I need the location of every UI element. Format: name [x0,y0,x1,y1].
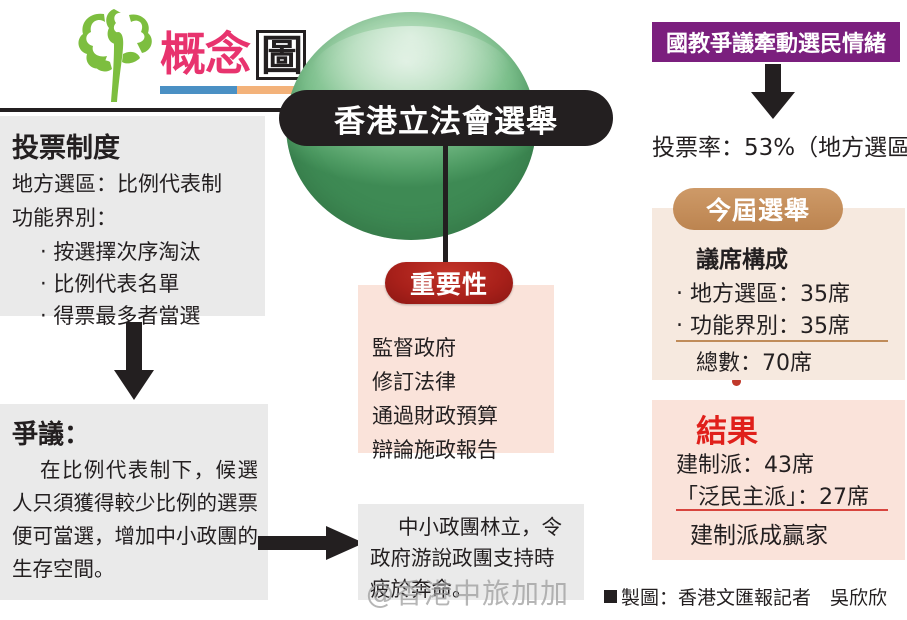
dispute-heading: 爭議： [12,414,90,451]
arrow-down-icon [748,64,798,120]
logo-box-frame: 圖 [256,30,306,80]
importance-item-4: 辯論施政報告 [372,434,498,464]
seat-row-functional: ‧ 功能界別：35席 [676,308,850,340]
voting-system-bullet-1: ‧ 按選擇次序淘汰 [40,236,200,266]
voting-system-bullet-2: ‧ 比例代表名單 [40,268,179,298]
voting-system-heading: 投票制度 [12,126,120,165]
logo-underline-bar [160,86,308,94]
importance-item-1: 監督政府 [372,332,456,362]
voting-system-line-2: 功能界別： [12,202,117,232]
result-conclusion: 建制派成贏家 [690,516,828,550]
watermark: @香港中旅加加 [366,572,569,612]
result-row-proestablishment: 建制派：43席 [676,447,814,479]
page-title: 香港立法會選舉 [279,90,613,146]
logo-text-concept: 概念 [160,28,250,80]
footer-credit: 製圖：香港文匯報記者 吳欣欣 [604,583,887,610]
infographic-root: 概念 圖 香港立法會選舉 投票制度 地方選區：比例代表制 功能界別： ‧ 按選擇… [0,0,907,620]
connector-title-to-importance [443,146,448,266]
dispute-panel: 爭議： 在比例代表制下，候選人只須獲得較少比例的選票便可當選，增加中小政團的生存… [0,404,268,600]
current-election-badge: 今屆選舉 [673,188,843,230]
connector-left-to-title [0,108,285,112]
sprout-leaf-icon [74,6,160,106]
seat-total: 總數：70席 [696,345,812,377]
importance-item-3: 通過財政預算 [372,400,498,430]
seat-row-geographical: ‧ 地方選區：35席 [676,276,850,308]
result-row-pandemocrats: 「泛民主派」：27席 [676,479,869,511]
dispute-body: 在比例代表制下，候選人只須獲得較少比例的選票便可當選，增加中小政團的生存空間。 [12,454,258,586]
result-divider [676,509,888,511]
square-bullet-icon [604,590,617,603]
importance-item-2: 修訂法律 [372,366,456,396]
purple-banner: 國教爭議牽動選民情緒 [652,22,900,62]
result-title: 結果 [696,406,758,451]
importance-badge: 重要性 [385,262,513,304]
logo-text-map: 圖 [261,31,303,81]
seat-composition-heading: 議席構成 [696,240,788,274]
arrow-right-icon [258,526,366,560]
voting-system-line-1: 地方選區：比例代表制 [12,168,222,198]
seat-divider [676,340,888,342]
voting-system-panel: 投票制度 地方選區：比例代表制 功能界別： ‧ 按選擇次序淘汰 ‧ 比例代表名單… [0,116,265,316]
arrow-down-icon [112,322,156,402]
footer-credit-text: 製圖：香港文匯報記者 吳欣欣 [621,583,887,610]
turnout-text: 投票率：53%（地方選區） [652,128,907,162]
concept-map-logo: 概念 圖 [74,6,274,106]
